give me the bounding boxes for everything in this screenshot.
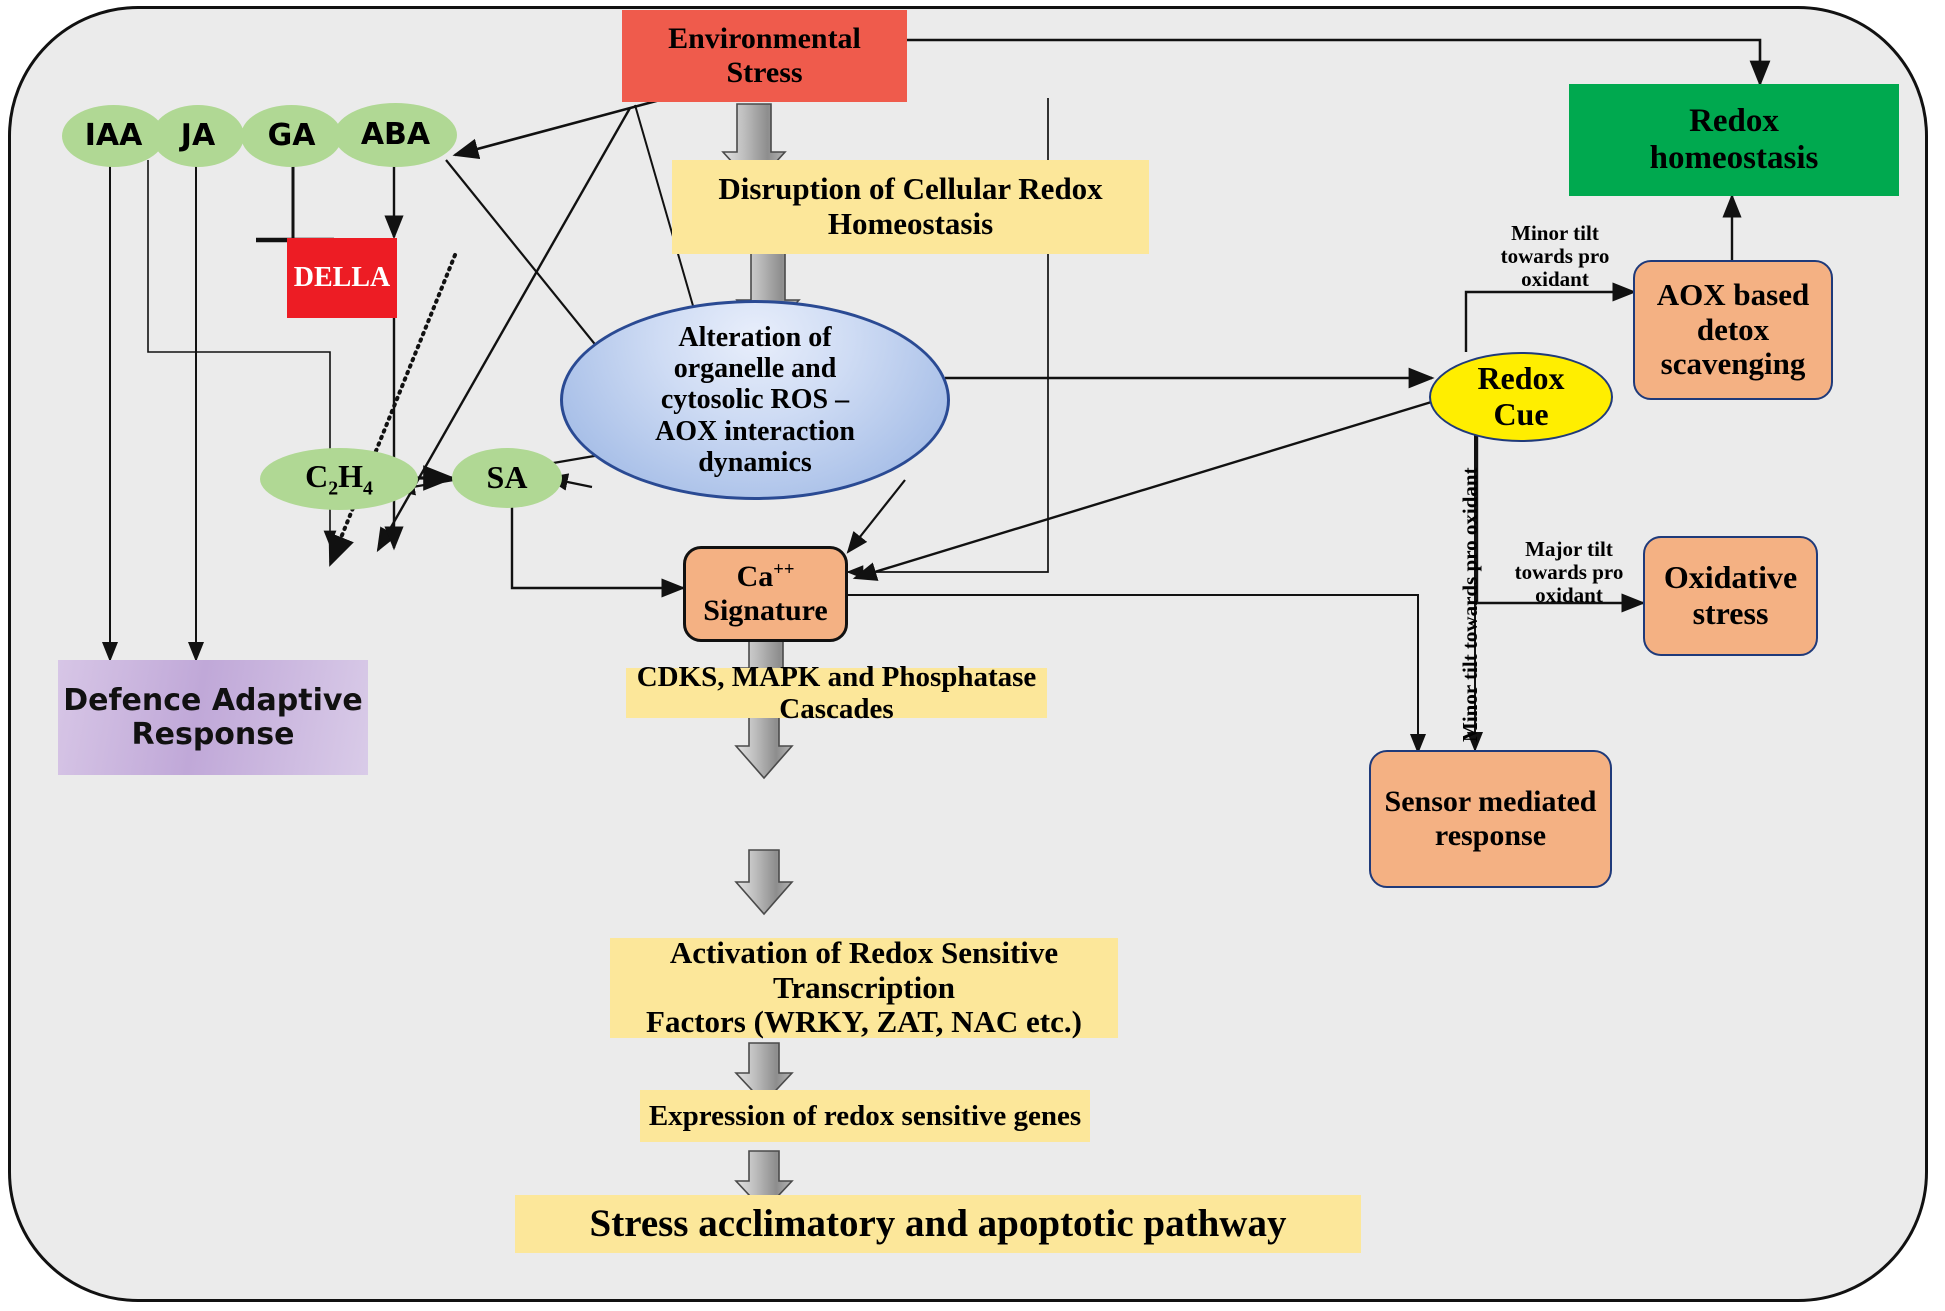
ca-signature-box[interactable]: Ca++ Signature <box>683 546 848 642</box>
hormone-ga[interactable]: GA <box>241 105 342 167</box>
sa-ellipse[interactable]: SA <box>452 448 562 508</box>
minor-tilt-top-label: Minor tilt towards pro oxidant <box>1467 222 1643 291</box>
redox-cue-ellipse[interactable]: Redox Cue <box>1429 352 1613 442</box>
aox-detox-box[interactable]: AOX based detox scavenging <box>1633 260 1833 400</box>
ca-signature-line1: Ca++ <box>737 560 795 594</box>
diagram-canvas: Environmental Stress Disruption of Cellu… <box>0 0 1945 1311</box>
hormone-ja[interactable]: JA <box>152 105 244 167</box>
hormone-iaa[interactable]: IAA <box>62 105 165 167</box>
redox-homeostasis-box[interactable]: Redox homeostasis <box>1569 84 1899 196</box>
environmental-stress-box[interactable]: Environmental Stress <box>622 10 907 102</box>
ros-aox-ellipse[interactable]: Alteration of organelle and cytosolic RO… <box>560 300 950 500</box>
ca-charge: ++ <box>773 559 794 580</box>
ethylene-formula: C2H4 <box>305 459 373 500</box>
ethylene-ellipse[interactable]: C2H4 <box>260 448 418 510</box>
cdks-cascades-box[interactable]: CDKS, MAPK and Phosphatase Cascades <box>626 668 1047 718</box>
expression-genes-box[interactable]: Expression of redox sensitive genes <box>640 1090 1090 1142</box>
sensor-mediated-response-box[interactable]: Sensor mediated response <box>1369 750 1612 888</box>
della-box[interactable]: DELLA <box>287 238 397 318</box>
stress-acclimatory-box[interactable]: Stress acclimatory and apoptotic pathway <box>515 1195 1361 1253</box>
minor-tilt-vertical-label: Minor tilt towards pro oxidant <box>1458 467 1483 742</box>
hormone-aba[interactable]: ABA <box>334 103 457 167</box>
major-tilt-label: Major tilt towards pro oxidant <box>1480 538 1658 607</box>
ca-signature-line2: Signature <box>703 594 827 628</box>
disruption-redox-box[interactable]: Disruption of Cellular Redox Homeostasis <box>672 160 1149 254</box>
oxidative-stress-box[interactable]: Oxidative stress <box>1643 536 1818 656</box>
activation-tf-box[interactable]: Activation of Redox Sensitive Transcript… <box>610 938 1118 1038</box>
ca-label: Ca <box>737 560 774 593</box>
defence-adaptive-response-box[interactable]: Defence Adaptive Response <box>58 660 368 775</box>
